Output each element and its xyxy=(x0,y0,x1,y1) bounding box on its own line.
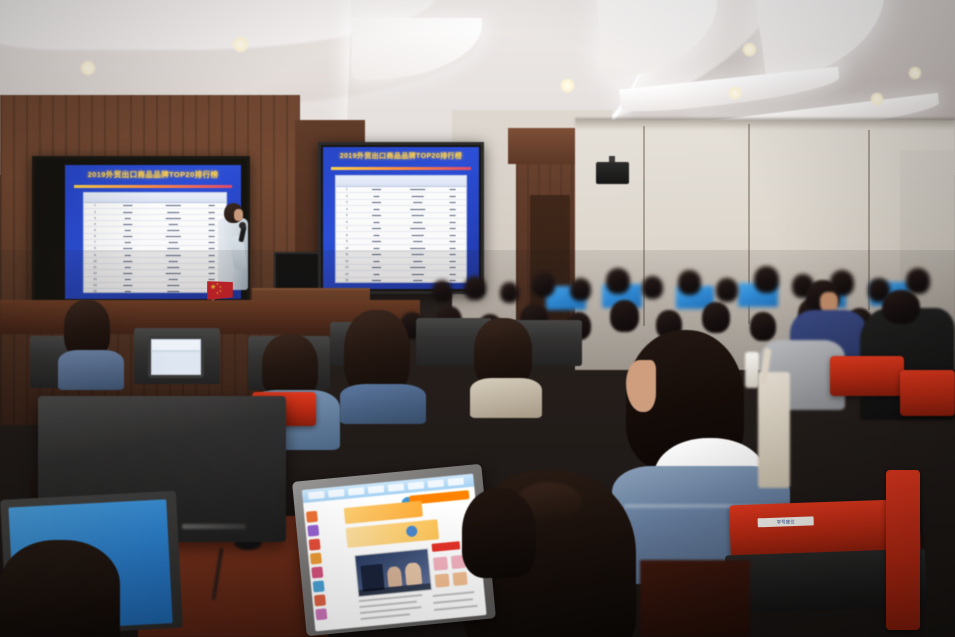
downlight xyxy=(560,78,575,93)
student-long-hair-center-left xyxy=(340,310,428,420)
left-slide-rule xyxy=(74,185,232,188)
downlight xyxy=(232,36,249,53)
downlight xyxy=(742,42,757,57)
sidebar-icon-5[interactable] xyxy=(311,566,323,578)
chair-seat-label: 学号座位 xyxy=(758,516,814,527)
mid-monitor-lit xyxy=(148,336,204,378)
student-head-beside-monitor xyxy=(462,488,536,578)
right-slide-title: 2019外贸出口商品品牌TOP20排行榜 xyxy=(332,151,469,161)
downlight xyxy=(870,92,884,106)
monitor-buttons xyxy=(182,524,246,529)
left-slide-title: 2019外贸出口商品品牌TOP20排行榜 xyxy=(76,169,231,180)
downlight xyxy=(908,66,922,80)
thumb-tile[interactable] xyxy=(452,572,467,586)
tote-bag xyxy=(758,372,790,488)
promo-banner-second[interactable] xyxy=(346,519,439,548)
downlight xyxy=(728,86,742,100)
sidebar-icon-4[interactable] xyxy=(310,553,322,565)
sidebar-icon-7[interactable] xyxy=(314,594,326,606)
downlight xyxy=(80,60,96,76)
sidebar-icon-8[interactable] xyxy=(315,608,327,620)
chair-back xyxy=(830,356,904,396)
thumb-tile[interactable] xyxy=(435,573,450,587)
text-line xyxy=(360,613,410,620)
sidebar-icon-1[interactable] xyxy=(306,511,318,523)
text-line xyxy=(433,598,473,604)
microphone-head-icon xyxy=(239,222,246,229)
student-head-bottom-left xyxy=(0,540,120,637)
monitor-screen[interactable] xyxy=(302,474,487,632)
student-blue-shirt-left xyxy=(58,300,128,386)
right-slide-rule xyxy=(331,167,471,170)
water-bottle xyxy=(745,352,759,388)
sidebar-icon-3[interactable] xyxy=(309,539,321,551)
hot-tag[interactable] xyxy=(432,541,461,552)
presenter-face xyxy=(234,209,243,221)
wall-speaker-icon xyxy=(596,162,629,184)
student-beige-top xyxy=(470,318,544,414)
thumb-tile[interactable] xyxy=(433,557,448,571)
chair-back xyxy=(900,370,955,416)
text-line xyxy=(434,605,478,611)
sidebar-icon-6[interactable] xyxy=(313,580,325,592)
article-thumbnail[interactable] xyxy=(354,548,432,597)
text-line xyxy=(432,591,474,597)
promo-banner-top[interactable] xyxy=(344,501,423,524)
desk-right-foreground xyxy=(640,560,750,637)
lecture-hall-photo: 2019外贸出口商品品牌TOP20排行榜 1▬▬▬▬▬▬▬▬▬▬ 2▬▬▬▬▬▬… xyxy=(0,0,955,637)
chair-frame-right xyxy=(886,470,920,630)
sidebar-icon-2[interactable] xyxy=(307,525,319,537)
text-line xyxy=(360,606,422,614)
